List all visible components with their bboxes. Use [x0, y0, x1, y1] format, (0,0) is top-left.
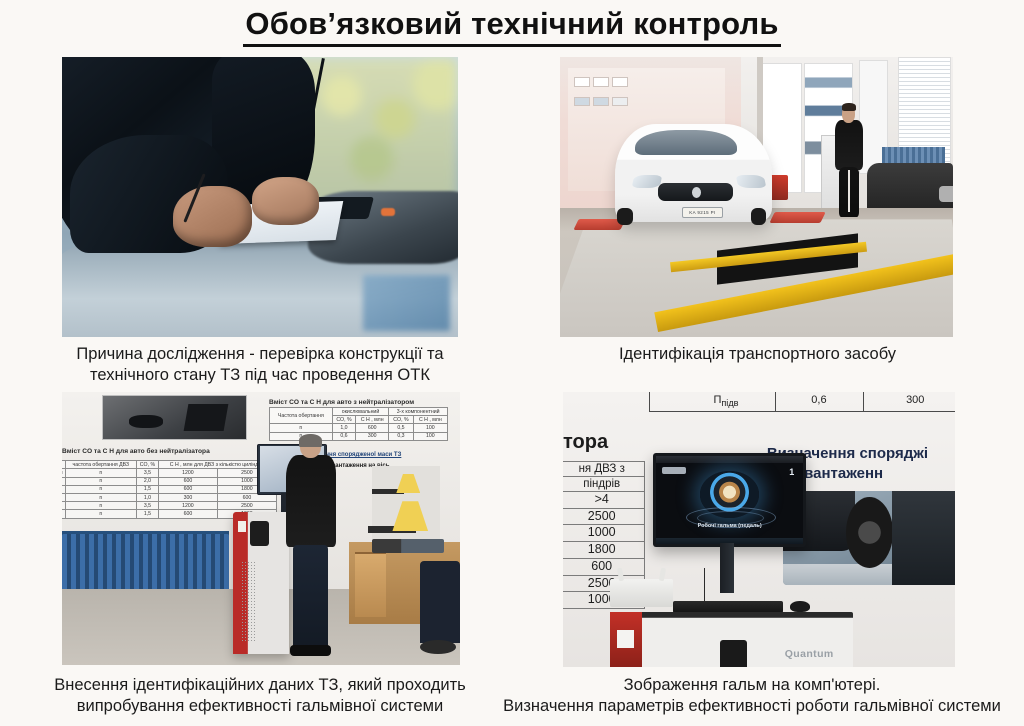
- axle-number: 1: [789, 467, 794, 477]
- person-hair: [842, 103, 855, 111]
- car-headlight-right: [736, 175, 766, 188]
- blue-reflection: [363, 275, 450, 331]
- license-plate-text: KA 9215 PI: [689, 210, 716, 215]
- caption-line-2: технічного стану ТЗ під час проведення О…: [40, 365, 480, 386]
- poster-top-row: Ппідв 0,6 300: [649, 392, 955, 412]
- td: 100: [413, 424, 447, 432]
- table-divider: [649, 392, 650, 411]
- table-divider: [775, 392, 776, 411]
- caption-line-2: Визначення параметрів ефективності робот…: [480, 696, 1024, 717]
- caption-line-1: Зображення гальм на комп'ютері.: [480, 675, 1024, 696]
- td: n: [65, 485, 136, 493]
- caption-top-left: Причина дослідження - перевірка конструк…: [40, 344, 480, 386]
- poster-heading-fragment: тора: [563, 431, 608, 454]
- column-header-line-2: піндрів: [563, 476, 645, 491]
- car-tire: [617, 208, 633, 225]
- desk-equipment: [372, 539, 444, 553]
- person-torso: [286, 455, 336, 547]
- td: 2500: [217, 502, 276, 510]
- machine-vent-grid: [241, 561, 257, 643]
- label-sub: підв: [721, 398, 738, 408]
- operator-person: [285, 436, 337, 654]
- person-legs: [839, 167, 859, 216]
- office-chair: [420, 561, 460, 643]
- th-co: CO, %: [136, 461, 158, 469]
- car-tire: [751, 208, 767, 225]
- photo-brake-monitor: Ппідв 0,6 300 тора ня ДВЗ з піндрів >4 2…: [563, 392, 955, 667]
- td: 2,0: [136, 477, 158, 485]
- brand-label: Quantum: [785, 648, 834, 660]
- table-divider: [863, 392, 864, 411]
- page-title: Обов’язковий технічний контроль: [0, 6, 1024, 47]
- column-value: >4: [563, 491, 645, 508]
- td: 1,5: [136, 510, 158, 518]
- car-headlight-left: [631, 175, 661, 188]
- poster-row-label: Ппідв: [713, 394, 738, 408]
- td: 100: [413, 432, 447, 440]
- inspector-person: [831, 105, 866, 217]
- th-co: CO, %: [332, 416, 355, 424]
- cabinet-label: [617, 630, 634, 649]
- td: 600: [356, 424, 389, 432]
- monitor-stand: [720, 543, 734, 593]
- cabinet-cylinder: [720, 640, 747, 668]
- th-co: CO, %: [389, 416, 413, 424]
- th-rpm: частота обертання ДВЗ: [65, 461, 136, 469]
- td: n: [269, 424, 332, 432]
- engine-cap: [381, 208, 395, 216]
- td: 300: [158, 494, 217, 502]
- td: 3,5: [136, 502, 158, 510]
- car-windshield: [635, 130, 737, 155]
- td: 0,5: [389, 424, 413, 432]
- th-ch: C H , млн: [413, 416, 447, 424]
- poster-left-title: Вміст CO та C H для авто без нейтралізат…: [62, 448, 210, 455]
- person-shoes: [290, 645, 331, 656]
- photo-operator-analyzer-art: Вміст CO та C H для авто без нейтралізат…: [62, 392, 460, 665]
- td: 600: [158, 477, 217, 485]
- person-hair: [299, 434, 322, 447]
- person-legs: [293, 545, 328, 650]
- td: 1200: [158, 502, 217, 510]
- door-window: [574, 97, 590, 106]
- caption-line-1: Внесення ідентифікаційних даних ТЗ, який…: [20, 675, 500, 696]
- caption-top-right: Ідентифікація транспортного засобу: [555, 344, 960, 365]
- caption-bottom-left: Внесення ідентифікаційних даних ТЗ, який…: [20, 675, 500, 717]
- photo-inspection-lane-art: KA 9215 PI: [560, 57, 953, 337]
- brake-test-monitor: 1 Робочі гальма (педаль): [653, 453, 806, 548]
- td: n: [65, 494, 136, 502]
- door-window: [612, 97, 628, 106]
- poster-secondary-photo: [892, 491, 955, 585]
- slide-root: Обов’язковий технічний контроль Причина …: [0, 0, 1024, 726]
- td: 1,0: [136, 494, 158, 502]
- mechanic-hand-holding: [252, 177, 319, 225]
- caption-line-1: Ідентифікація транспортного засобу: [555, 344, 960, 365]
- th-group-2: 3-х компонентний: [389, 408, 448, 416]
- wheel-chock: [769, 212, 826, 223]
- td: n: [65, 502, 136, 510]
- photo-operator-analyzer: Вміст CO та C H для авто без нейтралізат…: [62, 392, 460, 665]
- caption-bottom-right: Зображення гальм на комп'ютері. Визначен…: [480, 675, 1024, 717]
- software-logo-icon: [662, 467, 686, 474]
- td: 1,5: [136, 485, 158, 493]
- door-window: [593, 77, 609, 88]
- column-value: 1800: [563, 542, 645, 559]
- column-value: 1000: [563, 525, 645, 542]
- truck-wheel: [846, 497, 893, 568]
- td: n: [65, 469, 136, 477]
- column-header-line-1: ня ДВЗ з: [563, 461, 645, 476]
- column-value: 600: [563, 558, 645, 575]
- mouse: [790, 601, 810, 612]
- poster-row-value-1: 0,6: [811, 394, 826, 406]
- wifi-router: [610, 579, 673, 607]
- caption-line-2: випробування ефективності гальмівної сис…: [20, 696, 500, 717]
- th-group-1: окислювальний: [332, 408, 389, 416]
- td: 0,3: [389, 432, 413, 440]
- photo-brake-monitor-art: Ппідв 0,6 300 тора ня ДВЗ з піндрів >4 2…: [563, 392, 955, 667]
- screen-titlebar: [656, 456, 803, 464]
- door-window: [593, 97, 609, 106]
- caption-line-1: Причина дослідження - перевірка конструк…: [40, 344, 480, 365]
- td: 600: [158, 510, 217, 518]
- person-torso: [835, 120, 863, 169]
- truck-ground: [783, 564, 901, 585]
- td: 300: [356, 432, 389, 440]
- door-window: [574, 77, 590, 88]
- td: n: [65, 510, 136, 518]
- td: 1,0: [332, 424, 355, 432]
- poster-right-title: Вміст CO та C H для авто з нейтралізатор…: [269, 399, 414, 406]
- screen-label: Робочі гальма (педаль): [656, 523, 803, 529]
- photo-mechanic-clipboard-art: [62, 57, 458, 337]
- door-window: [612, 77, 628, 88]
- license-plate: KA 9215 PI: [682, 207, 723, 219]
- column-value: 2500: [563, 508, 645, 525]
- th-ch: C H , млн: [356, 416, 389, 424]
- wall-inset-photo: [102, 395, 247, 441]
- td: 3,5: [136, 469, 158, 477]
- brake-test-screen: 1 Робочі гальма (педаль): [656, 456, 803, 545]
- th-rpm: Частота обертання: [269, 408, 332, 424]
- photo-inspection-lane: KA 9215 PI: [560, 57, 953, 337]
- poster-left-table: частота обертання ДВЗ CO, % C H , млн дл…: [62, 460, 277, 518]
- photo-mechanic-clipboard: [62, 57, 458, 337]
- td: 600: [158, 485, 217, 493]
- poster-row-value-2: 300: [906, 394, 924, 406]
- page-title-text: Обов’язковий технічний контроль: [243, 6, 780, 47]
- td: 1200: [158, 469, 217, 477]
- td: n: [65, 477, 136, 485]
